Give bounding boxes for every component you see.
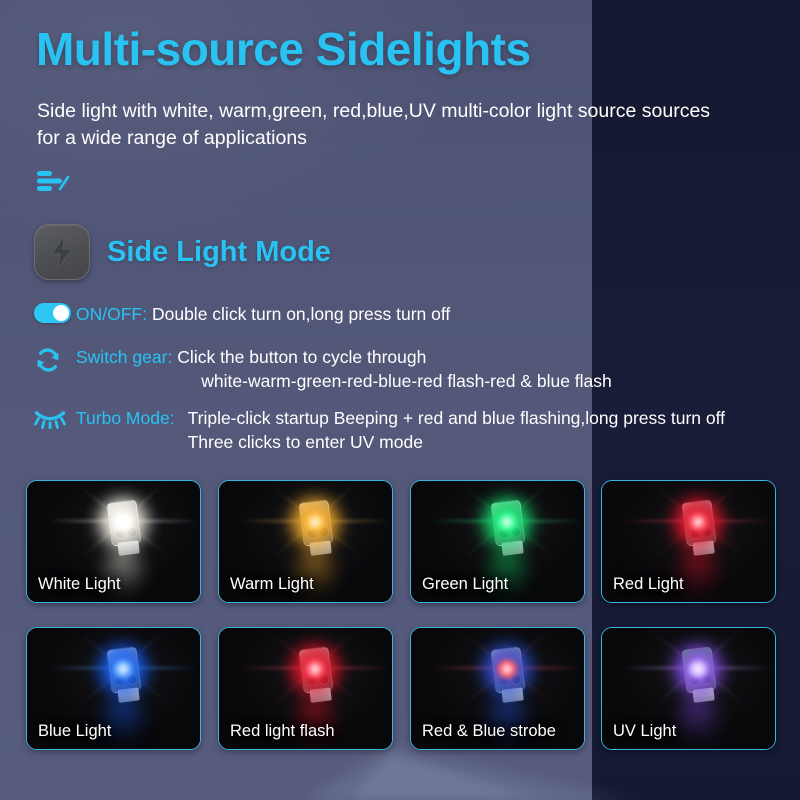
tile-label: Red light flash [230,722,335,741]
cycle-arrows-icon-wrap[interactable] [34,345,76,374]
led-core [688,660,708,678]
tile-label: White Light [38,575,121,594]
gallery-tile[interactable]: Warm Light [218,480,393,603]
feature-row-onoff: ON/OFF: Double click turn on,long press … [34,302,450,326]
eyelash-icon [34,407,66,429]
lightning-bolt-button[interactable] [34,224,90,280]
eyelash-icon-wrap[interactable] [34,406,76,429]
side-light-mode-header: Side Light Mode [34,224,331,280]
tile-label: Warm Light [230,575,314,594]
led-core [305,660,325,678]
tile-label: Red Light [613,575,684,594]
surface-reflection [680,547,716,599]
led-core [497,660,517,678]
tile-label: Blue Light [38,722,111,741]
gallery-tile[interactable]: Red light flash [218,627,393,750]
gallery-tile[interactable]: Green Light [410,480,585,603]
cycle-arrows-icon [34,346,62,374]
feature-switch-text-line2: white-warm-green-red-blue-red flash-red … [177,369,611,393]
list-bars-icon [37,170,71,192]
feature-row-switch-gear: Switch gear: Click the button to cycle t… [34,345,612,393]
feature-onoff-key: ON/OFF: [76,302,147,326]
tile-label: Red & Blue strobe [422,722,556,741]
tile-label: UV Light [613,722,676,741]
infographic-page: Multi-source Sidelights Side light with … [0,0,800,800]
feature-switch-text-line1: Click the button to cycle through [177,345,611,369]
feature-switch-key: Switch gear: [76,345,172,369]
gallery-tile[interactable]: UV Light [601,627,776,750]
gallery-tile[interactable]: Red & Blue strobe [410,627,585,750]
led-core [113,513,133,531]
lightning-bolt-icon [49,235,75,269]
led-core [113,660,133,678]
gallery-tile[interactable]: Red Light [601,480,776,603]
feature-turbo-text-line2: Three clicks to enter UV mode [188,430,725,454]
feature-turbo-key: Turbo Mode: [76,406,175,430]
gallery-tile[interactable]: Blue Light [26,627,201,750]
side-light-mode-title: Side Light Mode [107,236,331,269]
feature-onoff-text: Double click turn on,long press turn off [152,302,450,326]
page-title: Multi-source Sidelights [36,22,531,76]
surface-reflection [680,694,716,746]
feature-row-turbo-mode: Turbo Mode: Triple-click startup Beeping… [34,406,725,454]
feature-turbo-text-line1: Triple-click startup Beeping + red and b… [188,406,725,430]
toggle-switch-on-icon[interactable] [34,302,76,323]
page-subtitle: Side light with white, warm,green, red,b… [37,98,717,152]
led-core [305,513,325,531]
led-core [497,513,517,531]
gallery-tile[interactable]: White Light [26,480,201,603]
led-core [688,513,708,531]
tile-label: Green Light [422,575,508,594]
